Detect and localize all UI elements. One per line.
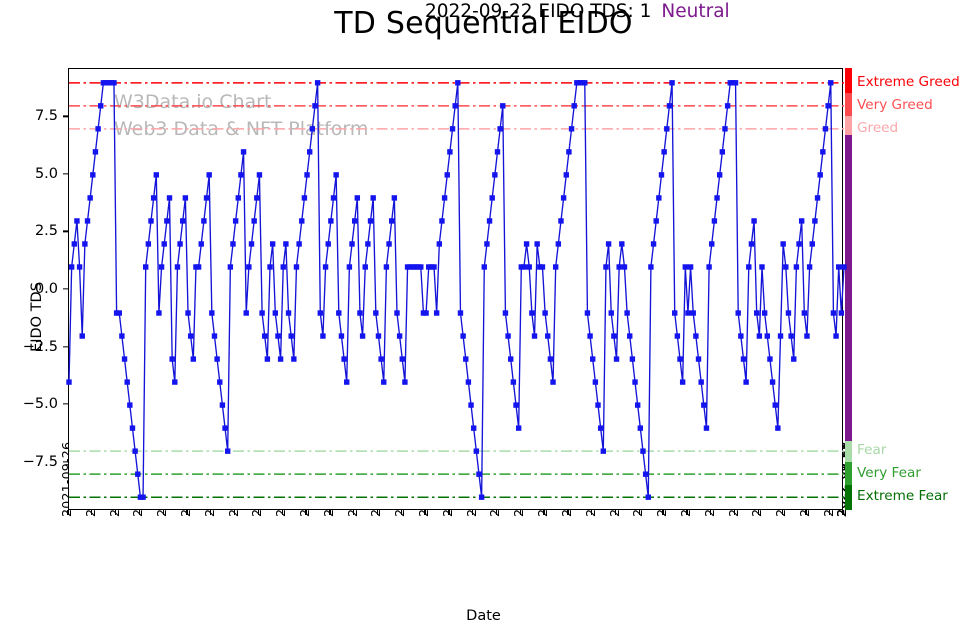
tds-marker <box>479 494 484 499</box>
tds-marker <box>691 310 696 315</box>
tds-marker <box>749 241 754 246</box>
tds-marker <box>365 241 370 246</box>
tds-marker <box>688 264 693 269</box>
tds-marker <box>770 379 775 384</box>
tds-marker <box>117 310 122 315</box>
swatch-greed <box>845 116 852 134</box>
tds-marker <box>418 264 423 269</box>
tds-marker <box>685 310 690 315</box>
y-tick-label: −7.5 <box>8 454 58 470</box>
tds-marker <box>225 448 230 453</box>
tds-marker <box>217 379 222 384</box>
tds-marker <box>273 310 278 315</box>
tds-marker <box>439 218 444 223</box>
tds-marker <box>201 218 206 223</box>
tds-marker <box>595 402 600 407</box>
tds-marker <box>492 172 497 177</box>
tds-marker <box>251 218 256 223</box>
tds-marker <box>124 379 129 384</box>
tds-marker <box>275 333 280 338</box>
tds-marker <box>146 241 151 246</box>
tds-marker <box>606 241 611 246</box>
tds-marker <box>791 356 796 361</box>
tds-marker <box>204 195 209 200</box>
tds-marker <box>130 425 135 430</box>
tds-marker <box>566 149 571 154</box>
tds-marker <box>278 356 283 361</box>
tds-marker <box>336 310 341 315</box>
tds-marker <box>384 264 389 269</box>
tds-marker <box>267 264 272 269</box>
tds-marker <box>132 448 137 453</box>
tds-marker <box>151 195 156 200</box>
tds-marker <box>646 494 651 499</box>
band-label: Very Fear <box>857 465 921 481</box>
tds-marker <box>733 80 738 85</box>
tds-marker <box>775 425 780 430</box>
tds-marker <box>482 264 487 269</box>
tds-marker <box>466 379 471 384</box>
tds-marker <box>331 195 336 200</box>
tds-marker <box>381 379 386 384</box>
swatch-neutral <box>845 135 852 441</box>
annotation-date-tds: 2022-09-22 EIDO TDS: 1 <box>425 1 651 22</box>
tds-marker <box>323 264 328 269</box>
tds-marker <box>471 425 476 430</box>
tds-marker <box>817 172 822 177</box>
tds-marker <box>458 310 463 315</box>
tds-marker <box>706 264 711 269</box>
swatch-fear <box>845 441 852 462</box>
tds-marker <box>841 264 846 269</box>
tds-marker <box>490 195 495 200</box>
tds-marker <box>349 241 354 246</box>
tds-marker <box>484 241 489 246</box>
y-tick-label: 5.0 <box>8 166 58 182</box>
tds-marker <box>172 379 177 384</box>
tds-marker <box>402 379 407 384</box>
tds-marker <box>524 241 529 246</box>
tds-marker <box>828 80 833 85</box>
tds-marker <box>590 356 595 361</box>
tds-marker <box>569 126 574 131</box>
tds-marker <box>77 264 82 269</box>
tds-marker <box>616 264 621 269</box>
tds-marker <box>516 425 521 430</box>
tds-marker <box>423 310 428 315</box>
tds-marker <box>244 310 249 315</box>
tds-marker <box>622 264 627 269</box>
tds-marker <box>585 310 590 315</box>
tds-marker <box>291 356 296 361</box>
tds-marker <box>603 264 608 269</box>
tds-marker <box>368 218 373 223</box>
tds-marker <box>799 218 804 223</box>
tds-marker <box>455 80 460 85</box>
tds-marker <box>392 195 397 200</box>
tds-marker <box>656 195 661 200</box>
tds-marker <box>296 241 301 246</box>
tds-marker <box>836 264 841 269</box>
swatch-very-greed <box>845 93 852 116</box>
tds-marker <box>717 172 722 177</box>
tds-marker <box>164 218 169 223</box>
tds-marker <box>720 149 725 154</box>
tds-marker <box>582 80 587 85</box>
tds-marker <box>93 149 98 154</box>
tds-marker <box>249 241 254 246</box>
tds-marker <box>246 264 251 269</box>
tds-marker <box>833 333 838 338</box>
tds-marker <box>783 264 788 269</box>
tds-marker <box>561 195 566 200</box>
tds-marker <box>69 264 74 269</box>
tds-marker <box>632 379 637 384</box>
tds-marker <box>683 264 688 269</box>
tds-marker <box>598 425 603 430</box>
tds-marker <box>344 379 349 384</box>
tds-marker <box>445 172 450 177</box>
tds-marker <box>476 471 481 476</box>
tds-marker <box>159 264 164 269</box>
tds-marker <box>199 241 204 246</box>
tds-series-layer <box>69 69 844 511</box>
tds-marker <box>283 241 288 246</box>
tds-marker <box>619 241 624 246</box>
tds-marker <box>654 218 659 223</box>
tds-marker <box>310 126 315 131</box>
tds-marker <box>167 195 172 200</box>
tds-marker <box>281 264 286 269</box>
tds-marker <box>698 379 703 384</box>
tds-marker <box>542 310 547 315</box>
tds-marker <box>609 310 614 315</box>
tds-marker <box>550 379 555 384</box>
tds-marker <box>669 80 674 85</box>
tds-marker <box>640 448 645 453</box>
swatch-extreme-greed <box>845 68 852 93</box>
tds-marker <box>736 310 741 315</box>
tds-marker <box>450 126 455 131</box>
tds-marker <box>341 356 346 361</box>
tds-marker <box>762 310 767 315</box>
tds-marker <box>347 264 352 269</box>
tds-marker <box>140 494 145 499</box>
tds-marker <box>431 264 436 269</box>
tds-marker <box>238 172 243 177</box>
tds-marker <box>80 333 85 338</box>
tds-marker <box>66 379 71 384</box>
tds-marker <box>326 241 331 246</box>
tds-marker <box>757 333 762 338</box>
tds-marker <box>175 264 180 269</box>
tds-marker <box>177 241 182 246</box>
tds-marker <box>675 333 680 338</box>
tds-marker <box>259 310 264 315</box>
tds-marker <box>804 333 809 338</box>
chart-canvas: TD Sequential EIDO 2022-09-22 EIDO TDS: … <box>0 0 967 633</box>
tds-marker <box>767 356 772 361</box>
tds-marker <box>513 402 518 407</box>
tds-marker <box>233 218 238 223</box>
tds-marker <box>709 241 714 246</box>
tds-marker <box>534 241 539 246</box>
plot-area: W3Data.io Chart Web3 Data & NFT Platform <box>68 68 843 510</box>
tds-marker <box>648 264 653 269</box>
tds-marker <box>386 241 391 246</box>
tds-marker <box>320 333 325 338</box>
tds-marker <box>400 356 405 361</box>
tds-marker <box>572 103 577 108</box>
tds-marker <box>659 172 664 177</box>
tds-marker <box>495 149 500 154</box>
tds-marker <box>664 126 669 131</box>
tds-marker <box>497 126 502 131</box>
tds-marker <box>802 310 807 315</box>
tds-marker <box>712 218 717 223</box>
tds-marker <box>564 172 569 177</box>
tds-marker <box>788 333 793 338</box>
tds-marker <box>759 264 764 269</box>
tds-marker <box>236 195 241 200</box>
tds-marker <box>463 356 468 361</box>
y-tick-label: −5.0 <box>8 396 58 412</box>
tds-marker <box>209 310 214 315</box>
tds-marker <box>696 356 701 361</box>
tds-marker <box>746 264 751 269</box>
tds-marker <box>614 356 619 361</box>
band-label: Very Greed <box>857 97 933 113</box>
tds-marker <box>796 241 801 246</box>
band-label: Fear <box>857 442 886 458</box>
tds-marker <box>630 356 635 361</box>
tds-marker <box>593 379 598 384</box>
tds-marker <box>741 356 746 361</box>
tds-marker <box>328 218 333 223</box>
tds-marker <box>180 218 185 223</box>
tds-marker <box>714 195 719 200</box>
tds-marker <box>751 218 756 223</box>
swatch-very-fear <box>845 462 852 485</box>
tds-marker <box>254 195 259 200</box>
tds-marker <box>378 356 383 361</box>
tds-marker <box>72 241 77 246</box>
tds-marker <box>262 333 267 338</box>
tds-marker <box>333 172 338 177</box>
tds-marker <box>135 471 140 476</box>
tds-marker <box>701 402 706 407</box>
tds-marker <box>315 80 320 85</box>
tds-marker <box>304 172 309 177</box>
tds-marker <box>352 218 357 223</box>
annotation-regime: Neutral <box>661 1 729 22</box>
tds-marker <box>230 241 235 246</box>
tds-marker <box>162 241 167 246</box>
tds-marker <box>725 103 730 108</box>
tds-marker <box>527 264 532 269</box>
tds-marker <box>318 310 323 315</box>
tds-marker <box>553 264 558 269</box>
current-value-annotation: 2022-09-22 EIDO TDS: 1Neutral <box>425 1 730 22</box>
y-tick-label: 7.5 <box>8 108 58 124</box>
tds-marker <box>820 149 825 154</box>
tds-marker <box>601 448 606 453</box>
tds-marker <box>286 310 291 315</box>
tds-marker <box>294 264 299 269</box>
tds-marker <box>825 103 830 108</box>
tds-marker <box>661 149 666 154</box>
tds-marker <box>85 218 90 223</box>
tds-marker <box>704 425 709 430</box>
tds-marker <box>780 241 785 246</box>
tds-marker <box>98 103 103 108</box>
tds-marker <box>373 310 378 315</box>
tds-marker <box>693 333 698 338</box>
tds-marker <box>355 195 360 200</box>
tds-marker <box>90 172 95 177</box>
tds-marker <box>312 103 317 108</box>
tds-marker <box>765 333 770 338</box>
tds-marker <box>558 218 563 223</box>
tds-marker <box>360 333 365 338</box>
tds-marker <box>810 241 815 246</box>
tds-marker <box>807 264 812 269</box>
tds-marker <box>188 333 193 338</box>
tds-marker <box>148 218 153 223</box>
tds-marker <box>257 172 262 177</box>
tds-marker <box>508 356 513 361</box>
tds-marker <box>638 425 643 430</box>
tds-marker <box>389 218 394 223</box>
tds-marker <box>119 333 124 338</box>
y-tick-label: 2.5 <box>8 223 58 239</box>
tds-marker <box>545 333 550 338</box>
tds-marker <box>778 333 783 338</box>
tds-marker <box>521 264 526 269</box>
tds-marker <box>169 356 174 361</box>
tds-marker <box>87 195 92 200</box>
tds-marker <box>722 126 727 131</box>
tds-marker <box>111 80 116 85</box>
tds-marker <box>754 310 759 315</box>
tds-marker <box>82 241 87 246</box>
tds-marker <box>196 264 201 269</box>
tds-marker <box>288 333 293 338</box>
tds-marker <box>214 356 219 361</box>
tds-marker <box>220 402 225 407</box>
tds-marker <box>831 310 836 315</box>
tds-marker <box>680 379 685 384</box>
tds-marker <box>143 264 148 269</box>
y-tick-label: −2.5 <box>8 339 58 355</box>
band-label: Extreme Greed <box>857 74 960 90</box>
tds-marker <box>206 172 211 177</box>
tds-marker <box>786 310 791 315</box>
tds-marker <box>624 310 629 315</box>
tds-marker <box>74 218 79 223</box>
tds-marker <box>823 126 828 131</box>
tds-marker <box>468 402 473 407</box>
tds-marker <box>339 333 344 338</box>
tds-marker <box>270 241 275 246</box>
tds-marker <box>794 264 799 269</box>
tds-marker <box>95 126 100 131</box>
tds-marker <box>487 218 492 223</box>
tds-marker <box>376 333 381 338</box>
tds-marker <box>460 333 465 338</box>
tds-marker <box>474 448 479 453</box>
tds-marker <box>122 356 127 361</box>
band-label: Greed <box>857 120 898 136</box>
tds-marker <box>672 310 677 315</box>
tds-marker <box>307 149 312 154</box>
tds-marker <box>812 218 817 223</box>
tds-marker <box>627 333 632 338</box>
tds-marker <box>394 310 399 315</box>
tds-marker <box>302 195 307 200</box>
tds-marker <box>241 149 246 154</box>
y-tick-label: 0.0 <box>8 281 58 297</box>
swatch-extreme-fear <box>845 485 852 510</box>
tds-marker <box>442 195 447 200</box>
tds-marker <box>677 356 682 361</box>
tds-marker <box>529 310 534 315</box>
tds-marker <box>532 333 537 338</box>
tds-marker <box>503 310 508 315</box>
tds-marker <box>299 218 304 223</box>
tds-marker <box>434 310 439 315</box>
tds-marker <box>743 379 748 384</box>
x-axis-label: Date <box>0 608 967 624</box>
tds-marker <box>397 333 402 338</box>
tds-line <box>69 83 844 497</box>
tds-marker <box>773 402 778 407</box>
tds-marker <box>447 149 452 154</box>
band-label: Extreme Fear <box>857 488 948 504</box>
tds-marker <box>127 402 132 407</box>
tds-marker <box>228 264 233 269</box>
tds-marker <box>540 264 545 269</box>
tds-marker <box>587 333 592 338</box>
tds-marker <box>511 379 516 384</box>
tds-marker <box>357 310 362 315</box>
tds-marker <box>738 333 743 338</box>
tds-marker <box>556 241 561 246</box>
tds-marker <box>363 264 368 269</box>
tds-marker <box>611 333 616 338</box>
tds-marker <box>437 241 442 246</box>
tds-marker <box>185 310 190 315</box>
tds-marker <box>839 310 844 315</box>
tds-marker <box>212 333 217 338</box>
tds-marker <box>643 471 648 476</box>
tds-marker <box>370 195 375 200</box>
tds-marker <box>222 425 227 430</box>
tds-marker <box>500 103 505 108</box>
tds-marker <box>183 195 188 200</box>
tds-marker <box>156 310 161 315</box>
tds-marker <box>191 356 196 361</box>
tds-marker <box>505 333 510 338</box>
tds-marker <box>154 172 159 177</box>
tds-marker <box>452 103 457 108</box>
tds-marker <box>265 356 270 361</box>
tds-marker <box>667 103 672 108</box>
tds-marker <box>635 402 640 407</box>
tds-marker <box>548 356 553 361</box>
tds-marker <box>815 195 820 200</box>
tds-marker <box>651 241 656 246</box>
